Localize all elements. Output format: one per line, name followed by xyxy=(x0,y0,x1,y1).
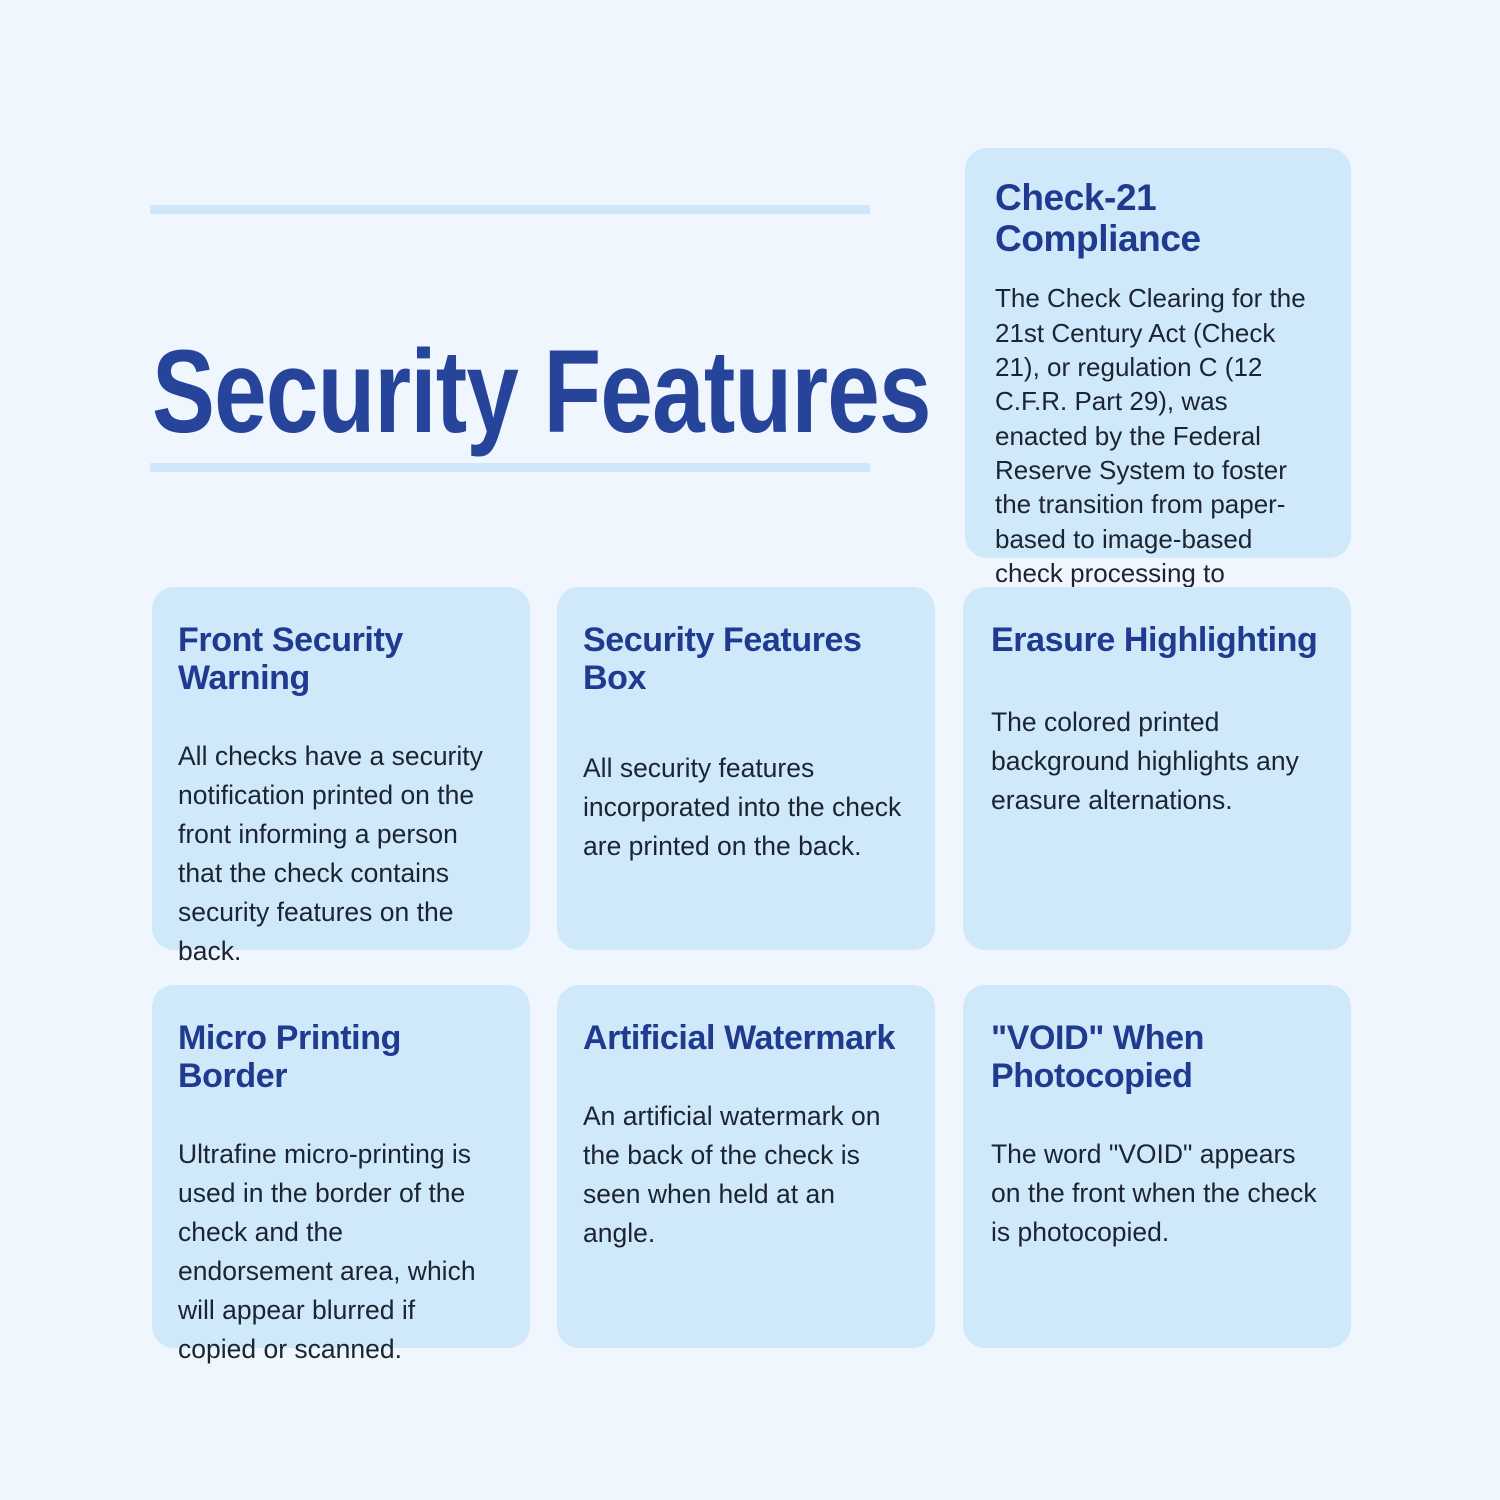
card-body: An artificial watermark on the back of t… xyxy=(583,1097,905,1253)
card-body: All checks have a security notification … xyxy=(178,737,500,971)
card-title: Micro Printing Border xyxy=(178,1019,500,1095)
title-block: Security Features xyxy=(150,200,870,475)
card-title: "VOID" When Photocopied xyxy=(991,1019,1329,1095)
card-body: The colored printed background highlight… xyxy=(991,703,1329,820)
card-void-when-photocopied: "VOID" When Photocopied The word "VOID" … xyxy=(963,985,1351,1348)
card-erasure-highlighting: Erasure Highlighting The colored printed… xyxy=(963,587,1351,950)
card-body: All security features incorporated into … xyxy=(583,749,905,866)
card-artificial-watermark: Artificial Watermark An artificial water… xyxy=(557,985,935,1348)
card-front-security-warning: Front Security Warning All checks have a… xyxy=(152,587,530,950)
card-body: The word "VOID" appears on the front whe… xyxy=(991,1135,1329,1252)
card-body: Ultrafine micro-printing is used in the … xyxy=(178,1135,500,1369)
title-rule-top xyxy=(150,205,870,214)
card-micro-printing-border: Micro Printing Border Ultrafine micro-pr… xyxy=(152,985,530,1348)
card-title: Front Security Warning xyxy=(178,621,500,697)
card-title: Artificial Watermark xyxy=(583,1019,905,1057)
page-title: Security Features xyxy=(152,333,736,451)
card-title: Security Features Box xyxy=(583,621,905,697)
card-security-features-box: Security Features Box All security featu… xyxy=(557,587,935,950)
title-rule-bottom xyxy=(150,463,870,472)
infographic-page: Security Features Check-21 Compliance Th… xyxy=(0,0,1500,1500)
card-title: Check-21 Compliance xyxy=(995,178,1319,259)
card-check-21-compliance: Check-21 Compliance The Check Clearing f… xyxy=(965,148,1351,558)
card-title: Erasure Highlighting xyxy=(991,621,1329,659)
